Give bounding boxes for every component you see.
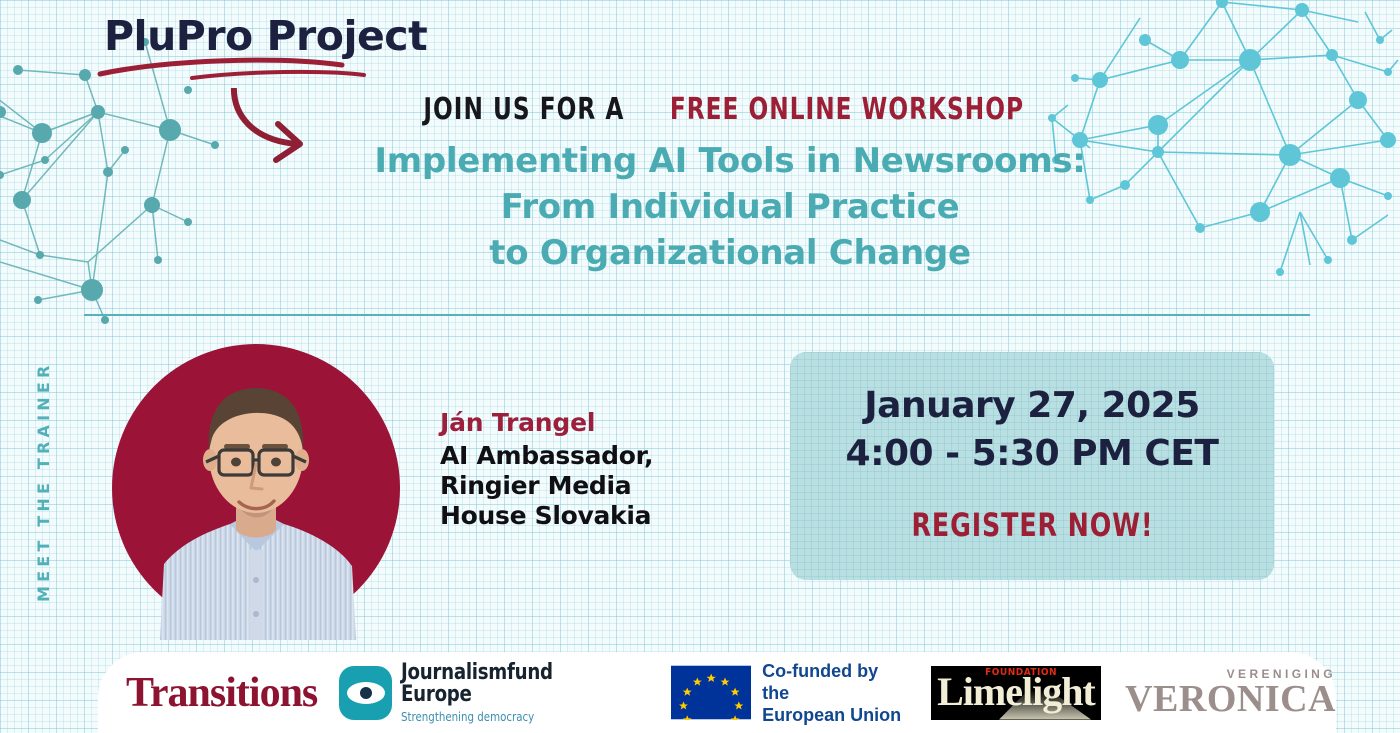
hand-drawn-underline-icon xyxy=(96,56,396,82)
eu-flag-icon xyxy=(671,665,751,720)
logo-transitions: Transitions xyxy=(98,652,317,733)
event-date: January 27, 2025 xyxy=(864,382,1200,430)
join-highlight: FREE ONLINE WORKSHOP xyxy=(670,92,1024,127)
speaker-role-line-2: Ringier Media xyxy=(440,471,653,501)
logo-european-union: Co-funded by the European Union xyxy=(645,652,907,733)
limelight-foundation-label: FOUNDATION xyxy=(985,667,1057,678)
join-prefix: JOIN US FOR A xyxy=(424,92,625,127)
journalismfund-tagline: Strengthening democracy xyxy=(401,711,632,723)
meet-the-trainer-label: MEET THE TRAINER xyxy=(34,402,53,602)
speaker-role: AI Ambassador, Ringier Media House Slova… xyxy=(440,441,653,531)
eu-funding-line-2: European Union xyxy=(762,704,907,726)
workshop-title-line-3: to Organizational Change xyxy=(60,230,1400,276)
speaker-role-line-1: AI Ambassador, xyxy=(440,441,653,471)
veronica-name: VERONICA xyxy=(1125,679,1336,719)
poster-canvas: PluPro Project JOIN US FOR A FREE ONLINE… xyxy=(0,0,1400,733)
speaker-role-line-3: House Slovakia xyxy=(440,501,653,531)
event-time: 4:00 - 5:30 PM CET xyxy=(846,430,1219,478)
avatar xyxy=(120,352,392,640)
section-divider xyxy=(84,314,1310,316)
page-title: PluPro Project xyxy=(104,12,427,60)
sponsor-logo-bar: Transitions Journalismfund Europe Streng… xyxy=(98,652,1336,733)
trainer-portrait xyxy=(112,344,400,640)
logo-limelight-foundation: Limelight FOUNDATION xyxy=(907,652,1101,733)
logo-vereniging-veronica: VERENIGING VERONICA xyxy=(1101,652,1336,733)
workshop-title-line-2: From Individual Practice xyxy=(60,184,1400,230)
logo-journalismfund-europe: Journalismfund Europe Strengthening demo… xyxy=(317,652,645,733)
speaker-info: Ján Trangel AI Ambassador, Ringier Media… xyxy=(440,408,653,531)
eye-icon xyxy=(339,666,392,720)
workshop-title-line-1: Implementing AI Tools in Newsrooms: xyxy=(60,138,1400,184)
eu-funding-line-1: Co-funded by the xyxy=(762,660,907,704)
register-now-button[interactable]: REGISTER NOW! xyxy=(911,506,1153,544)
journalismfund-name: Journalismfund Europe xyxy=(401,662,625,706)
speaker-name: Ján Trangel xyxy=(440,408,653,437)
join-us-line: JOIN US FOR A FREE ONLINE WORKSHOP xyxy=(0,92,1400,127)
event-details-panel: January 27, 2025 4:00 - 5:30 PM CET REGI… xyxy=(790,352,1274,580)
workshop-title: Implementing AI Tools in Newsrooms: From… xyxy=(0,138,1400,276)
